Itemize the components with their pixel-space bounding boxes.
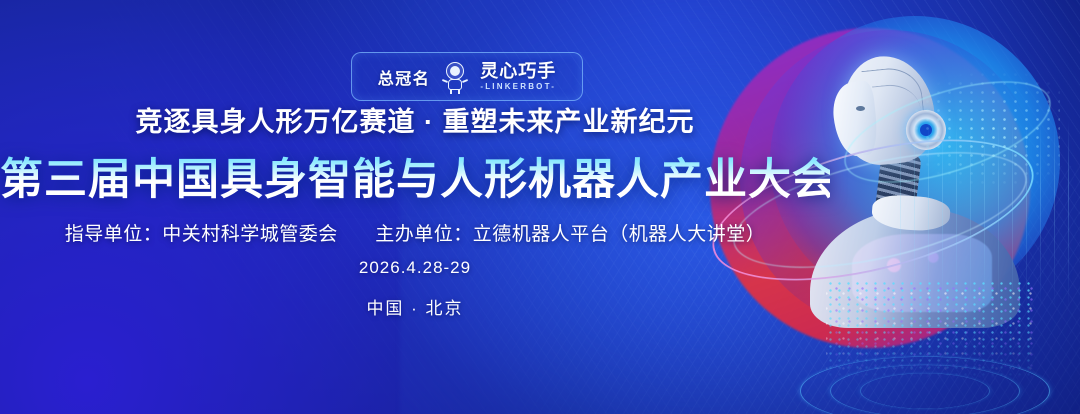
sponsor-brand-en: -LINKERBOT- [480, 83, 556, 91]
event-date: 2026.4.28-29 [0, 258, 830, 278]
date-location-block: 2026.4.28-29 中国 · 北京 [0, 258, 830, 319]
page-title: 第三届中国具身智能与人形机器人产业大会 [0, 145, 830, 207]
event-location: 中国 · 北京 [0, 294, 830, 319]
organizer-line: 指导单位：中关村科学城管委会 主办单位：立德机器人平台（机器人大讲堂） [0, 219, 830, 246]
astronaut-robot-icon [442, 62, 468, 92]
sponsor-brand: 灵心巧手 -LINKERBOT- [480, 62, 556, 91]
host-unit: 主办单位：立德机器人平台（机器人大讲堂） [375, 224, 765, 245]
conference-banner: 总冠名 灵心巧手 -LINKERBOT- 竞逐具身人形万亿赛道 · 重塑未来产业… [0, 0, 1080, 414]
sponsor-brand-cn: 灵心巧手 [480, 62, 556, 80]
banner-subtitle: 竞逐具身人形万亿赛道 · 重塑未来产业新纪元 [0, 100, 830, 139]
headline-block: 竞逐具身人形万亿赛道 · 重塑未来产业新纪元 第三届中国具身智能与人形机器人产业… [0, 100, 830, 246]
sponsor-label: 总冠名 [378, 65, 431, 89]
banner-content: 总冠名 灵心巧手 -LINKERBOT- 竞逐具身人形万亿赛道 · 重塑未来产业… [0, 0, 1080, 414]
guidance-unit: 指导单位：中关村科学城管委会 [65, 224, 338, 245]
sponsor-badge: 总冠名 灵心巧手 -LINKERBOT- [351, 52, 583, 101]
